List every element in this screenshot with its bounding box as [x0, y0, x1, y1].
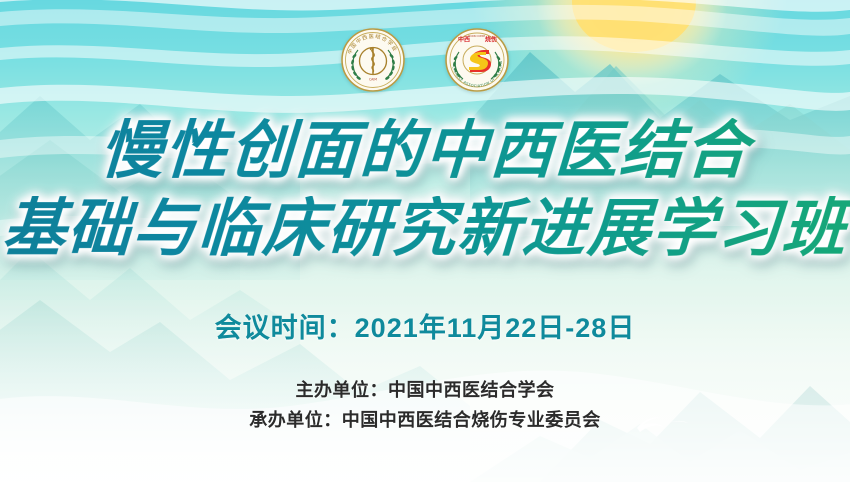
- conference-banner: 中国中西医结合学会: [0, 0, 850, 482]
- china-association-integrative-medicine-logo: 中国中西医结合学会: [341, 28, 405, 92]
- svg-text:CAIM: CAIM: [369, 78, 377, 82]
- organizer-block: 主办单位：中国中西医结合学会 承办单位：中国中西医结合烧伤专业委员会: [0, 376, 850, 435]
- svg-text:BURN COMM.: BURN COMM.: [468, 34, 486, 38]
- banner-title: 慢性创面的中西医结合 基础与临床研究新进展学习班: [0, 118, 850, 261]
- title-line-1: 慢性创面的中西医结合: [0, 118, 850, 182]
- svg-text:烧伤: 烧伤: [485, 36, 497, 44]
- co-host-organization: 承办单位：中国中西医结合烧伤专业委员会: [0, 406, 850, 436]
- title-line-2: 基础与临床研究新进展学习班: [0, 196, 850, 260]
- burn-committee-logo: 中西 烧伤 BURN COMM. CHINESE ASSOCIATION OF …: [445, 28, 509, 92]
- conference-date: 会议时间：2021年11月22日-28日: [0, 306, 850, 345]
- logo-row: 中国中西医结合学会: [0, 28, 850, 92]
- host-organization: 主办单位：中国中西医结合学会: [0, 376, 850, 406]
